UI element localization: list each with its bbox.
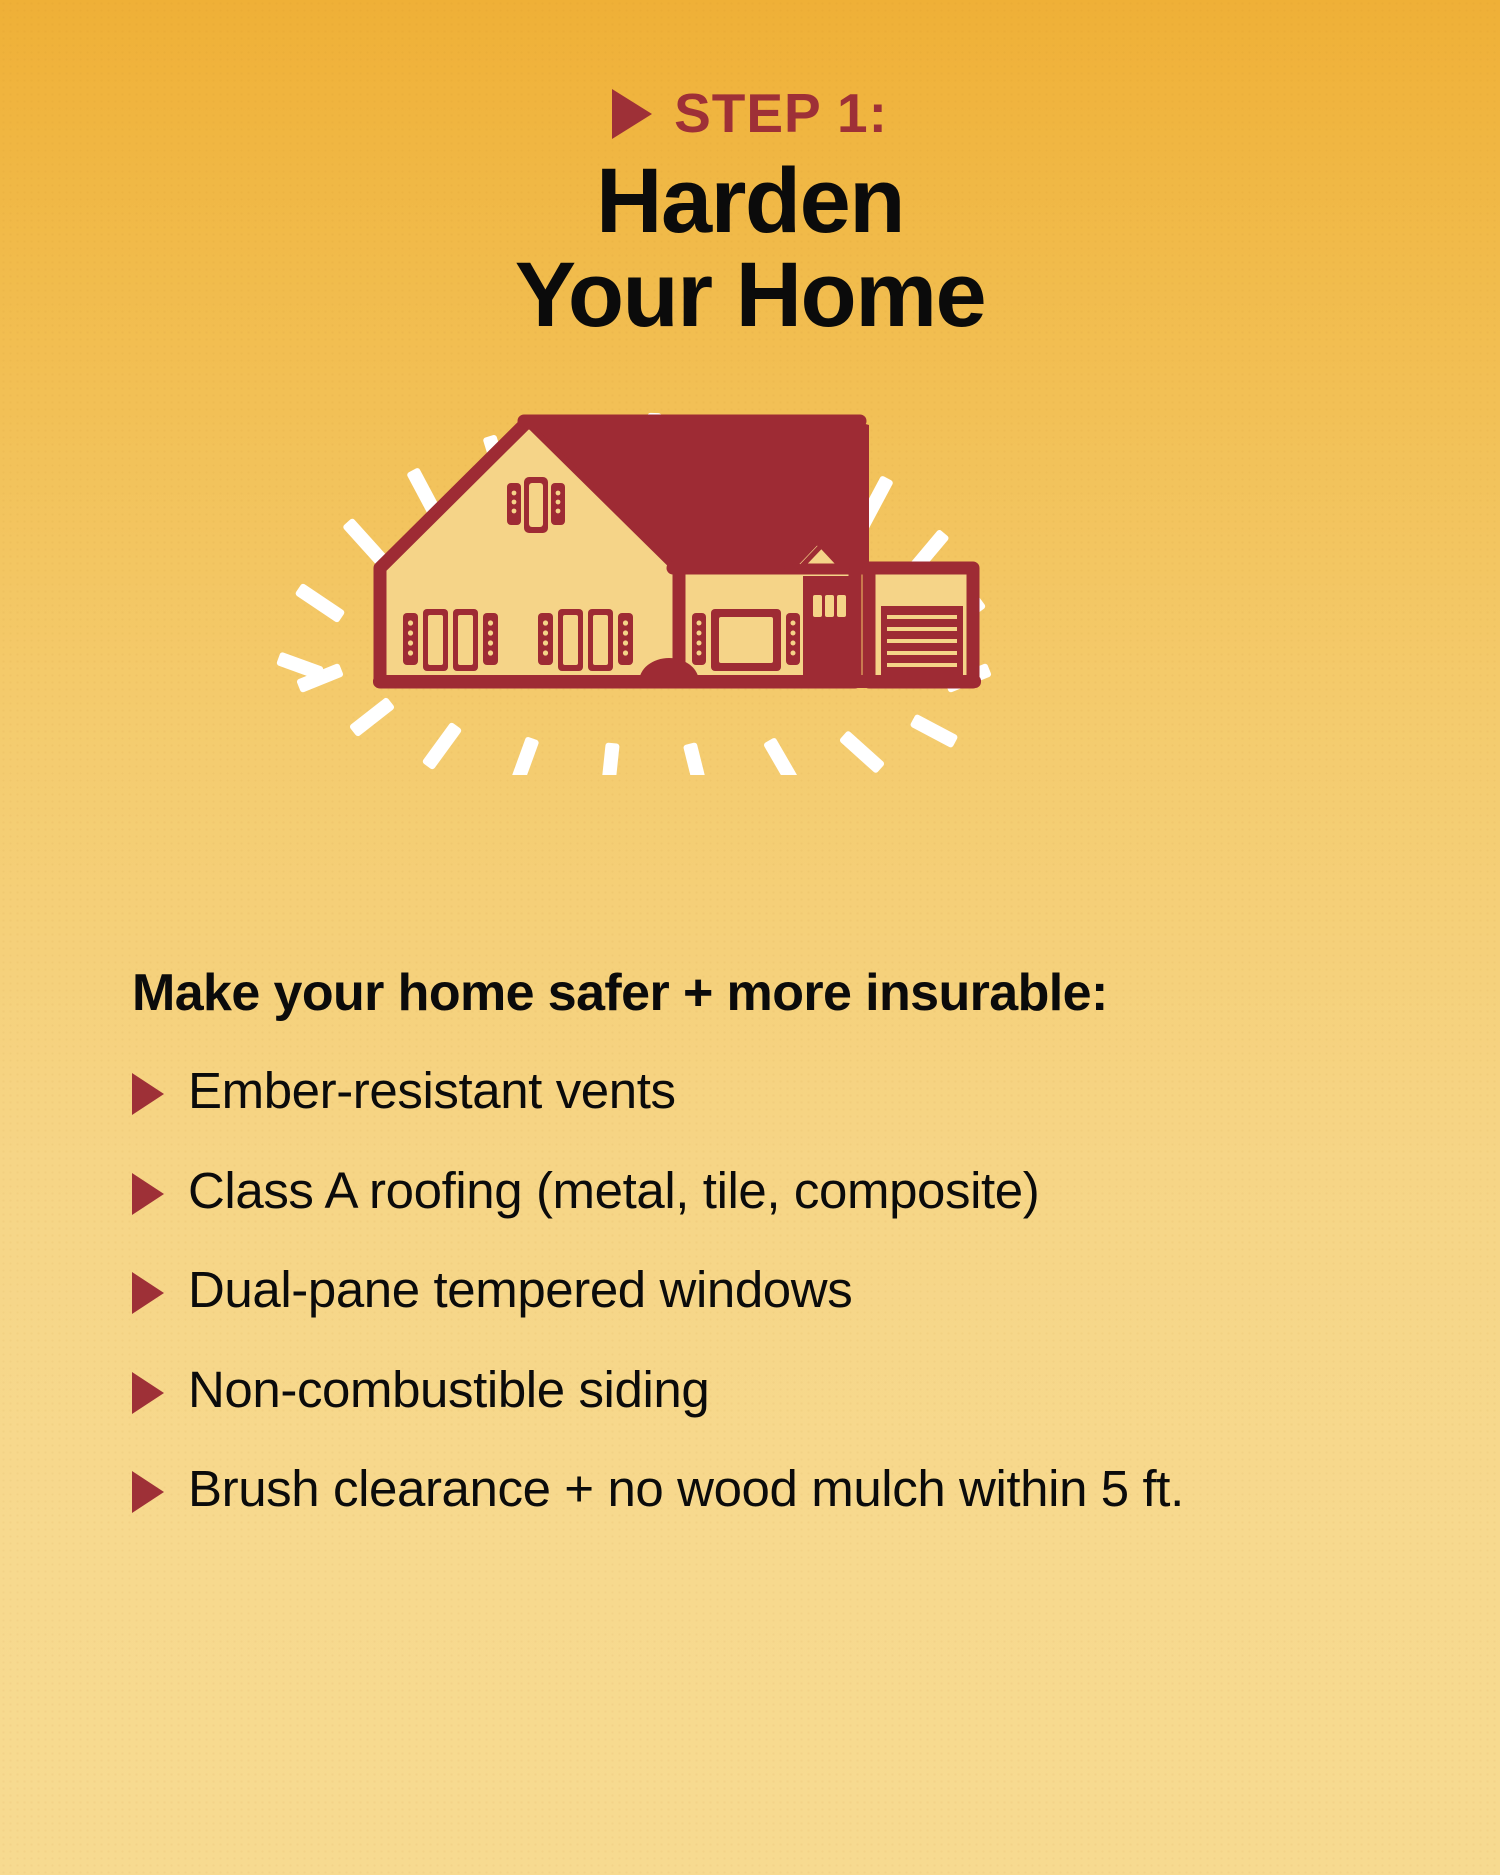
page-title: Harden Your Home <box>0 155 1500 343</box>
garage-door <box>869 568 973 682</box>
checklist-block: Make your home safer + more insurable: E… <box>132 965 1430 1516</box>
list-item: Brush clearance + no wood mulch within 5… <box>132 1462 1430 1516</box>
ground-line <box>373 675 981 688</box>
list-item-label: Ember-resistant vents <box>188 1064 676 1118</box>
list-item-label: Class A roofing (metal, tile, composite) <box>188 1164 1039 1218</box>
list-item: Class A roofing (metal, tile, composite) <box>132 1164 1430 1218</box>
front-door <box>803 576 855 682</box>
bullet-triangle-icon <box>132 1471 164 1513</box>
page-title-line-1: Harden <box>596 150 904 252</box>
attic-vent <box>507 477 565 533</box>
checklist: Ember-resistant vents Class A roofing (m… <box>132 1064 1430 1516</box>
bullet-triangle-icon <box>132 1073 164 1115</box>
step-eyebrow-label: STEP 1: <box>674 86 888 141</box>
bullet-triangle-icon <box>132 1173 164 1215</box>
bullet-triangle-icon <box>132 1372 164 1414</box>
list-item-label: Brush clearance + no wood mulch within 5… <box>188 1462 1184 1516</box>
list-item: Ember-resistant vents <box>132 1064 1430 1118</box>
list-item-label: Dual-pane tempered windows <box>188 1263 852 1317</box>
list-item-label: Non-combustible siding <box>188 1363 709 1417</box>
hardened-home-illustration <box>255 355 1005 775</box>
list-item: Non-combustible siding <box>132 1363 1430 1417</box>
list-item: Dual-pane tempered windows <box>132 1263 1430 1317</box>
checklist-lede: Make your home safer + more insurable: <box>132 965 1430 1022</box>
roof-right-edge <box>855 421 869 568</box>
bullet-triangle-icon <box>132 1272 164 1314</box>
step-eyebrow: STEP 1: <box>0 86 1500 141</box>
infographic-card: STEP 1: Harden Your Home <box>0 0 1500 1875</box>
page-title-line-2: Your Home <box>0 249 1500 343</box>
house-figure <box>373 421 981 688</box>
play-triangle-icon <box>612 89 652 139</box>
